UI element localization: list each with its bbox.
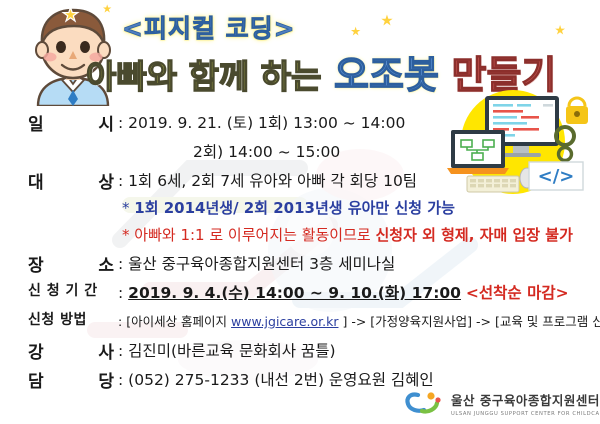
detail-label-method: 신청 방법 — [28, 309, 114, 329]
star-icon: ★ — [378, 10, 396, 30]
detail-value-instructor: : 김진미(바른교육 문화회사 꿈틀) — [118, 339, 336, 361]
event-poster: ★ ★ ★ ★ ★ <피지컬 코딩> 아빠와 함께 하는 오조봇 만들기 — [0, 0, 600, 424]
organization-logo: 울산 중구육아종합지원센터 ULSAN JUNGGU SUPPORT CENTE… — [404, 386, 594, 420]
detail-label-instructor: 강 사 — [28, 338, 114, 363]
logo-name-korean: 울산 중구육아종합지원센터 — [451, 390, 600, 409]
detail-value-place: : 울산 중구육아종합지원센터 3층 세미나실 — [118, 252, 395, 274]
title-segment-with-dad: 아빠와 함께 하는 — [86, 57, 322, 96]
detail-value-session2: 2회) 14:00 ~ 15:00 — [193, 140, 340, 162]
star-icon: ★ — [552, 22, 568, 40]
detail-label-date: 일 시 — [28, 110, 114, 135]
note-marker: * — [122, 226, 130, 244]
detail-value-audience: : 1회 6세, 2회 7세 유아와 아빠 각 회당 10팀 — [118, 169, 417, 191]
homepage-link[interactable]: www.jgicare.or.kr — [231, 314, 338, 329]
detail-row-period: 신 청 기 간 : 2019. 9. 4.(수) 14:00 ~ 9. 10.(… — [0, 278, 600, 307]
first-come-badge: <선착순 마감> — [466, 284, 569, 302]
poster-title-primary: <피지컬 코딩> — [122, 9, 296, 45]
detail-row-instructor: 강 사 : 김진미(바른교육 문화회사 꿈틀) — [0, 336, 600, 365]
detail-row-place: 장 소 : 울산 중구육아종합지원센터 3층 세미나실 — [0, 249, 600, 278]
method-steps-rest: ] -> [가정양육지원사업] -> [교육 및 프로그램 신청] -> [신청… — [342, 314, 600, 329]
note-birth-year-text: 1회 2014년생/ 2회 2013년생 유아만 신청 가능 — [134, 199, 455, 217]
detail-value-period: : 2019. 9. 4.(수) 14:00 ~ 9. 10.(화) 17:00… — [118, 281, 569, 303]
method-step-1: [아이세상 홈페이지 — [126, 314, 227, 329]
detail-label-audience: 대 상 — [28, 168, 114, 193]
detail-value-date: : 2019. 9. 21. (토) 1회) 13:00 ~ 14:00 — [118, 111, 405, 133]
logo-name-english: ULSAN JUNGGU SUPPORT CENTER FOR CHILDCAR… — [451, 411, 600, 417]
detail-row-audience: 대 상 : 1회 6세, 2회 7세 유아와 아빠 각 회당 10팀 — [0, 166, 600, 195]
detail-label-contact: 담 당 — [28, 367, 114, 392]
period-dates: 2019. 9. 4.(수) 14:00 ~ 9. 10.(화) 17:00 — [128, 284, 461, 302]
note-restriction-lead: 아빠와 1:1 로 이루어지는 활동이므로 — [134, 226, 370, 244]
detail-value-contact: : (052) 275-1233 (내선 2번) 운영요원 김혜인 — [118, 368, 434, 390]
detail-label-period: 신 청 기 간 — [28, 280, 114, 300]
star-icon: ★ — [348, 24, 363, 41]
event-details: 일 시 : 2019. 9. 21. (토) 1회) 13:00 ~ 14:00… — [0, 108, 600, 394]
detail-row-session2: 2회) 14:00 ~ 15:00 — [0, 137, 600, 166]
detail-label-place: 장 소 — [28, 251, 114, 276]
note-birth-year: * 1회 2014년생/ 2회 2013년생 유아만 신청 가능 — [0, 195, 600, 222]
center-logo-icon — [404, 389, 444, 417]
note-sibling-restriction: * 아빠와 1:1 로 이루어지는 활동이므로 신청자 외 형제, 자매 입장 … — [0, 222, 600, 249]
note-restriction-emphasis: 신청자 외 형제, 자매 입장 불가 — [375, 226, 572, 244]
title-segment-ozobot: 오조봇 — [334, 53, 439, 97]
detail-value-method: : [아이세상 홈페이지 www.jgicare.or.kr ] -> [가정양… — [118, 311, 600, 330]
detail-row-method: 신청 방법 : [아이세상 홈페이지 www.jgicare.or.kr ] -… — [0, 307, 600, 336]
note-marker: * — [122, 199, 130, 217]
detail-row-date: 일 시 : 2019. 9. 21. (토) 1회) 13:00 ~ 14:00 — [0, 108, 600, 137]
logo-text-block: 울산 중구육아종합지원센터 ULSAN JUNGGU SUPPORT CENTE… — [451, 390, 600, 417]
